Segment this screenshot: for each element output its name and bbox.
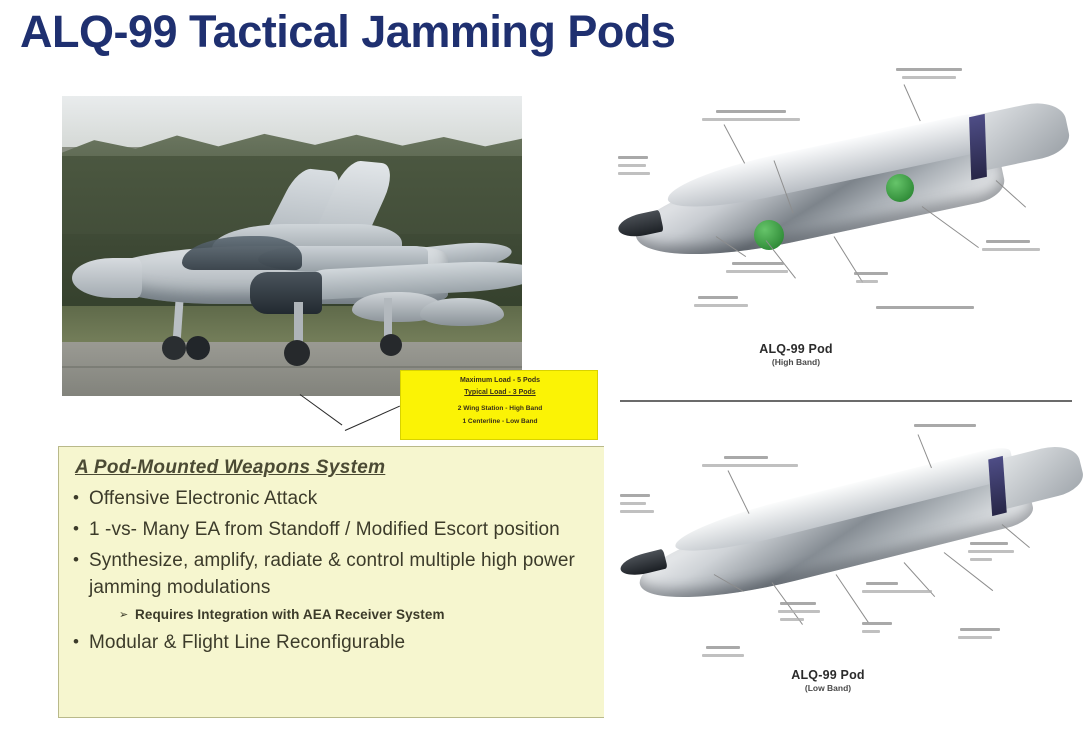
- aircraft-main-gear-strut-2: [384, 298, 392, 338]
- annotation-mark: [876, 306, 974, 309]
- annotation-mark: [862, 622, 892, 625]
- diagram-caption-title: ALQ-99 Pod: [696, 342, 896, 356]
- leader-line: [904, 84, 921, 121]
- bullet-marker: •: [73, 547, 89, 573]
- bullet-text: 1 -vs- Many EA from Standoff / Modified …: [89, 516, 560, 543]
- annotation-mark: [702, 464, 798, 467]
- annotation-mark: [618, 172, 650, 175]
- annotation-mark: [958, 636, 992, 639]
- photo-apron-marking: [62, 366, 522, 368]
- annotation-mark: [716, 110, 786, 113]
- pod-load-callout: Maximum Load - 5 Pods Typical Load - 3 P…: [400, 370, 598, 440]
- annotation-mark: [706, 646, 740, 649]
- annotation-mark: [620, 494, 650, 497]
- leader-line: [996, 180, 1026, 208]
- annotation-mark: [914, 424, 976, 427]
- annotation-mark: [726, 270, 788, 273]
- pod-transmitter-module-aft: [886, 174, 914, 202]
- annotation-mark: [970, 558, 992, 561]
- aircraft-photo: [62, 96, 522, 396]
- bullet-text: Synthesize, amplify, radiate & control m…: [89, 547, 593, 601]
- bullet-item: • Synthesize, amplify, radiate & control…: [73, 547, 593, 601]
- diagram-caption-low-band: ALQ-99 Pod (Low Band): [728, 668, 928, 693]
- annotation-mark: [724, 456, 768, 459]
- annotation-mark: [618, 156, 648, 159]
- annotation-mark: [778, 610, 820, 613]
- annotation-mark: [694, 304, 748, 307]
- leader-line: [836, 574, 869, 623]
- annotation-mark: [960, 628, 1000, 631]
- annotation-mark: [970, 542, 1008, 545]
- bullet-marker: •: [73, 485, 89, 511]
- annotation-mark: [780, 602, 816, 605]
- annotation-mark: [620, 502, 646, 505]
- leader-line: [922, 206, 979, 248]
- bullet-item: • Offensive Electronic Attack: [73, 485, 593, 512]
- diagram-caption-high-band: ALQ-99 Pod (High Band): [696, 342, 896, 367]
- callout-leader-line-2: [300, 394, 343, 425]
- sub-bullet-text: Requires Integration with AEA Receiver S…: [135, 605, 445, 625]
- annotation-mark: [620, 510, 654, 513]
- diagram-caption-sub: (High Band): [696, 357, 896, 367]
- pod-tail-fin: [971, 97, 1073, 171]
- callout-leader-line: [345, 406, 400, 431]
- callout-line-max-load: Maximum Load - 5 Pods: [409, 376, 591, 385]
- diagram-caption-sub: (Low Band): [728, 683, 928, 693]
- annotation-mark: [780, 618, 804, 621]
- bullet-item: • 1 -vs- Many EA from Standoff / Modifie…: [73, 516, 593, 543]
- aircraft-nose-wheel-2: [186, 336, 210, 360]
- annotation-mark: [896, 68, 962, 71]
- pod-diagram-high-band: ALQ-99 Pod (High Band): [604, 64, 1086, 390]
- annotation-mark: [986, 240, 1030, 243]
- bullet-marker: •: [73, 629, 89, 655]
- bullet-marker: •: [73, 516, 89, 542]
- bullet-item: • Modular & Flight Line Reconfigurable: [73, 629, 593, 656]
- page-title: ALQ-99 Tactical Jamming Pods: [20, 4, 920, 62]
- aircraft-main-wheel-2: [380, 334, 402, 356]
- annotation-mark: [698, 296, 738, 299]
- annotation-mark: [856, 280, 878, 283]
- pod-band-section: [969, 114, 987, 180]
- annotation-mark: [618, 164, 646, 167]
- callout-line-wing-station: 2 Wing Station - High Band: [409, 404, 591, 413]
- diagram-divider: [620, 400, 1072, 402]
- annotation-mark: [702, 654, 744, 657]
- aircraft-jamming-pod-outboard: [420, 298, 504, 326]
- annotation-mark: [862, 590, 932, 593]
- annotation-mark: [982, 248, 1040, 251]
- sub-bullet-item: ➢ Requires Integration with AEA Receiver…: [119, 605, 593, 625]
- aircraft-engine-intake: [250, 272, 322, 314]
- bullet-text: Modular & Flight Line Reconfigurable: [89, 629, 405, 656]
- leader-line: [834, 236, 863, 282]
- annotation-mark: [854, 272, 888, 275]
- callout-line-centerline: 1 Centerline - Low Band: [409, 417, 591, 426]
- arrow-icon: ➢: [119, 605, 135, 625]
- diagram-caption-title: ALQ-99 Pod: [728, 668, 928, 682]
- leader-line: [724, 124, 746, 163]
- aircraft-nose-wheel: [162, 336, 186, 360]
- aircraft-main-wheel: [284, 340, 310, 366]
- leader-line: [728, 470, 750, 514]
- annotation-mark: [702, 118, 800, 121]
- annotation-mark: [862, 630, 880, 633]
- leader-line: [918, 434, 932, 468]
- annotation-mark: [866, 582, 898, 585]
- pod-diagram-low-band: ALQ-99 Pod (Low Band): [604, 424, 1086, 730]
- weapons-system-textbox: A Pod-Mounted Weapons System • Offensive…: [58, 446, 606, 718]
- bullet-text: Offensive Electronic Attack: [89, 485, 317, 512]
- annotation-mark: [732, 262, 784, 265]
- callout-line-typical-load: Typical Load - 3 Pods: [409, 388, 591, 397]
- textbox-heading: A Pod-Mounted Weapons System: [75, 457, 593, 479]
- annotation-mark: [968, 550, 1014, 553]
- annotation-mark: [902, 76, 956, 79]
